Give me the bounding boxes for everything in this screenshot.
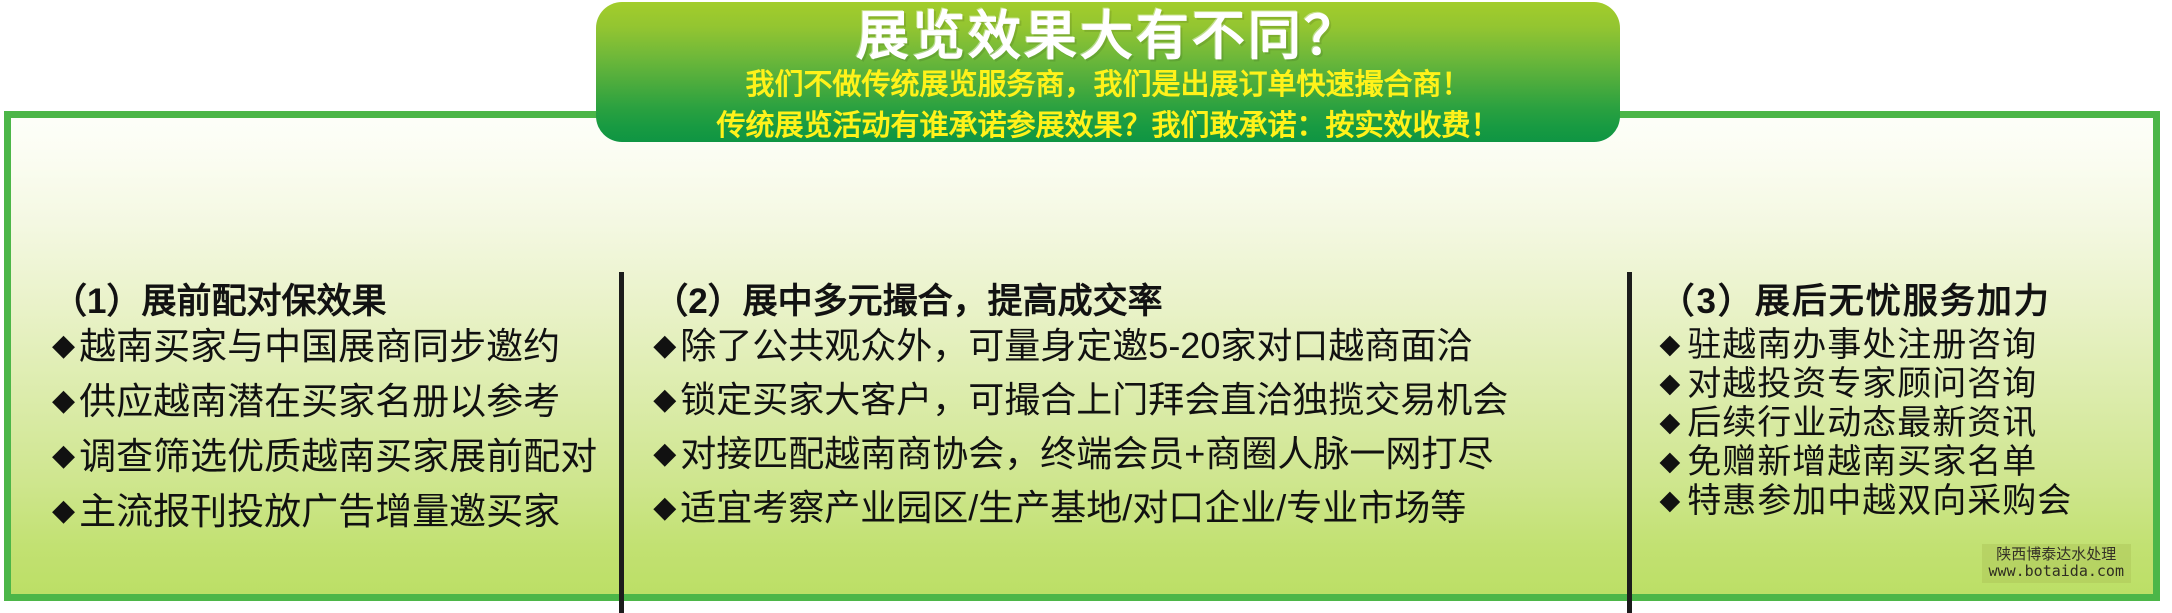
list-item-label: 对接匹配越南商协会，终端会员+商圈人脉一网打尽	[680, 436, 1493, 472]
diamond-bullet-icon: ◆	[653, 331, 676, 361]
diamond-bullet-icon: ◆	[52, 331, 75, 361]
diamond-bullet-icon: ◆	[52, 386, 75, 416]
diamond-bullet-icon: ◆	[653, 493, 676, 523]
watermark: 陕西博泰达水处理 www.botaida.com	[1982, 544, 2131, 583]
list-item: ◆ 越南买家与中国展商同步邀约	[52, 328, 619, 365]
column-2: （2）展中多元撮合，提高成交率 ◆ 除了公共观众外，可量身定邀5-20家对口越商…	[624, 236, 1627, 613]
list-item: ◆ 主流报刊投放广告增量邀买家	[52, 493, 619, 530]
list-item-label: 越南买家与中国展商同步邀约	[79, 328, 560, 365]
list-item: ◆ 对越投资专家顾问咨询	[1659, 367, 2156, 401]
column-2-bullet-list: ◆ 除了公共观众外，可量身定邀5-20家对口越商面洽 ◆ 锁定买家大客户，可撮合…	[653, 328, 1627, 526]
banner-subtitle-line-2: 传统展览活动有谁承诺参展效果？我们敢承诺：按实效收费！	[596, 104, 1620, 142]
list-item-label: 免赠新增越南买家名单	[1687, 445, 2037, 479]
diamond-bullet-icon: ◆	[1659, 487, 1680, 514]
watermark-company: 陕西博泰达水处理	[1989, 547, 2124, 563]
banner-subtitle-line-1: 我们不做传统展览服务商，我们是出展订单快速撮合商！	[596, 63, 1620, 104]
list-item: ◆ 后续行业动态最新资讯	[1659, 406, 2156, 440]
diamond-bullet-icon: ◆	[1659, 448, 1680, 475]
list-item: ◆ 免赠新增越南买家名单	[1659, 445, 2156, 479]
list-item-label: 主流报刊投放广告增量邀买家	[79, 493, 560, 530]
list-item: ◆ 锁定买家大客户，可撮合上门拜会直洽独揽交易机会	[653, 382, 1627, 418]
column-1-heading: （1）展前配对保效果	[52, 283, 619, 322]
list-item-label: 后续行业动态最新资讯	[1687, 406, 2037, 440]
diamond-bullet-icon: ◆	[52, 441, 75, 471]
infographic-root: （1）展前配对保效果 ◆ 越南买家与中国展商同步邀约 ◆ 供应越南潜在买家名册以…	[0, 0, 2172, 613]
list-item-label: 对越投资专家顾问咨询	[1687, 367, 2037, 401]
list-item: ◆ 除了公共观众外，可量身定邀5-20家对口越商面洽	[653, 328, 1627, 364]
list-item: ◆ 驻越南办事处注册咨询	[1659, 328, 2156, 362]
columns-container: （1）展前配对保效果 ◆ 越南买家与中国展商同步邀约 ◆ 供应越南潜在买家名册以…	[22, 236, 2156, 613]
diamond-bullet-icon: ◆	[1659, 370, 1680, 397]
list-item-label: 适宜考察产业园区/生产基地/对口企业/专业市场等	[680, 490, 1466, 526]
list-item-label: 锁定买家大客户，可撮合上门拜会直洽独揽交易机会	[680, 382, 1508, 418]
diamond-bullet-icon: ◆	[653, 439, 676, 469]
diamond-bullet-icon: ◆	[1659, 331, 1680, 358]
content-card: （1）展前配对保效果 ◆ 越南买家与中国展商同步邀约 ◆ 供应越南潜在买家名册以…	[4, 111, 2160, 601]
diamond-bullet-icon: ◆	[653, 385, 676, 415]
list-item: ◆ 适宜考察产业园区/生产基地/对口企业/专业市场等	[653, 490, 1627, 526]
list-item-label: 供应越南潜在买家名册以参考	[79, 383, 560, 420]
list-item: ◆ 特惠参加中越双向采购会	[1659, 484, 2156, 518]
list-item-label: 调查筛选优质越南买家展前配对	[79, 438, 597, 475]
column-2-heading: （2）展中多元撮合，提高成交率	[653, 283, 1627, 322]
header-banner: 展览效果大有不同？ 我们不做传统展览服务商，我们是出展订单快速撮合商！ 传统展览…	[596, 2, 1620, 142]
banner-title: 展览效果大有不同？	[596, 2, 1620, 63]
column-1-bullet-list: ◆ 越南买家与中国展商同步邀约 ◆ 供应越南潜在买家名册以参考 ◆ 调查筛选优质…	[52, 328, 619, 530]
watermark-url: www.botaida.com	[1989, 563, 2124, 579]
list-item-label: 特惠参加中越双向采购会	[1687, 484, 2072, 518]
column-1: （1）展前配对保效果 ◆ 越南买家与中国展商同步邀约 ◆ 供应越南潜在买家名册以…	[22, 236, 619, 613]
list-item-label: 除了公共观众外，可量身定邀5-20家对口越商面洽	[680, 328, 1472, 364]
list-item-label: 驻越南办事处注册咨询	[1687, 328, 2037, 362]
list-item: ◆ 对接匹配越南商协会，终端会员+商圈人脉一网打尽	[653, 436, 1627, 472]
list-item: ◆ 调查筛选优质越南买家展前配对	[52, 438, 619, 475]
column-3-bullet-list: ◆ 驻越南办事处注册咨询 ◆ 对越投资专家顾问咨询 ◆ 后续行业动态最新资讯 ◆…	[1659, 328, 2156, 518]
diamond-bullet-icon: ◆	[1659, 409, 1680, 436]
list-item: ◆ 供应越南潜在买家名册以参考	[52, 383, 619, 420]
column-3-heading: （3）展后无忧服务加力	[1659, 283, 2156, 322]
diamond-bullet-icon: ◆	[52, 496, 75, 526]
